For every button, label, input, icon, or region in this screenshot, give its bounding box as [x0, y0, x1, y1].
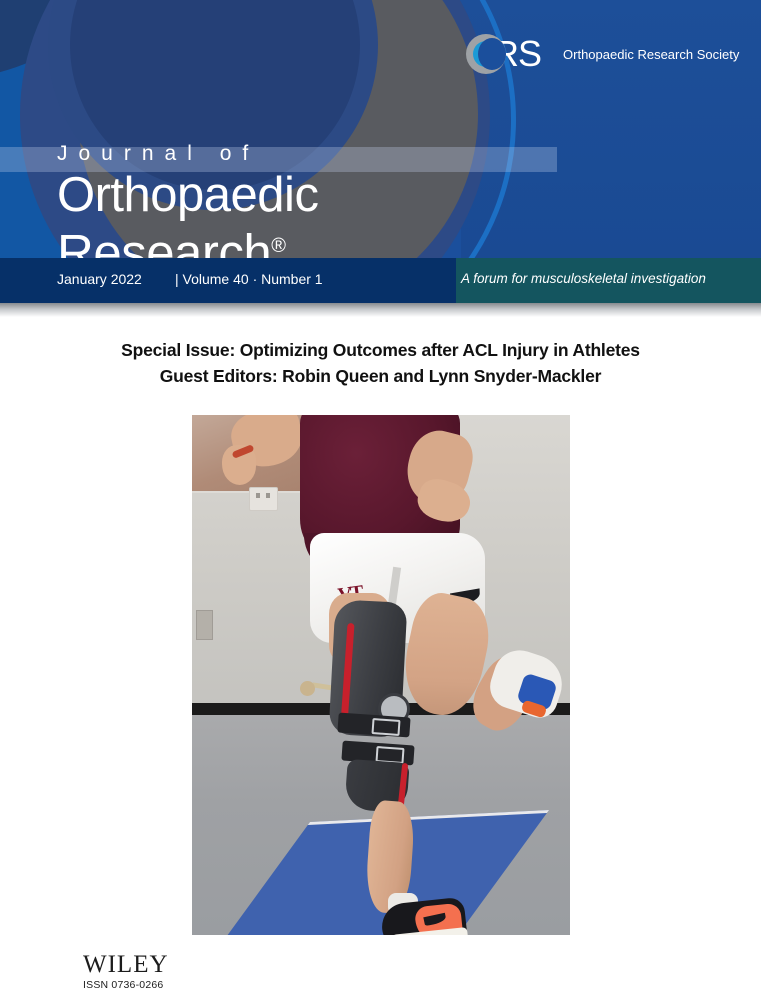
photo-floor-ball — [300, 681, 315, 696]
registered-trademark-icon: ® — [271, 235, 286, 257]
photo-knee-brace-buckle-upper — [371, 718, 400, 736]
issue-date: January 2022 — [57, 271, 142, 287]
special-issue-editors: Guest Editors: Robin Queen and Lynn Snyd… — [0, 363, 761, 389]
publisher-logo: WILEY — [83, 952, 169, 978]
ors-society-name: Orthopaedic Research Society — [563, 47, 739, 62]
header-shadow-strip — [0, 303, 761, 317]
photo-wall-plate — [196, 610, 213, 640]
ors-logo[interactable]: RS Orthopaedic Research Society — [466, 34, 739, 74]
title-orthopaedic: Orthopaedic — [57, 170, 318, 220]
cover-photo: VT LACROSSE — [192, 415, 570, 935]
journal-cover: Journal of Orthopaedic Research® RS Orth… — [0, 0, 761, 1000]
title-journal-of: Journal of — [57, 140, 318, 168]
ors-logo-icon — [466, 34, 506, 74]
ors-notch — [478, 38, 506, 70]
journal-tagline: A forum for musculoskeletal investigatio… — [461, 271, 706, 286]
issue-bar: January 2022 | Volume 40 · Number 1 A fo… — [0, 258, 761, 303]
special-issue-title: Special Issue: Optimizing Outcomes after… — [0, 337, 761, 363]
issue-volume-number: | Volume 40 · Number 1 — [175, 271, 323, 287]
issn-text: ISSN 0736-0266 — [83, 979, 163, 991]
photo-wall-outlet — [249, 487, 278, 511]
special-issue-block: Special Issue: Optimizing Outcomes after… — [0, 337, 761, 389]
